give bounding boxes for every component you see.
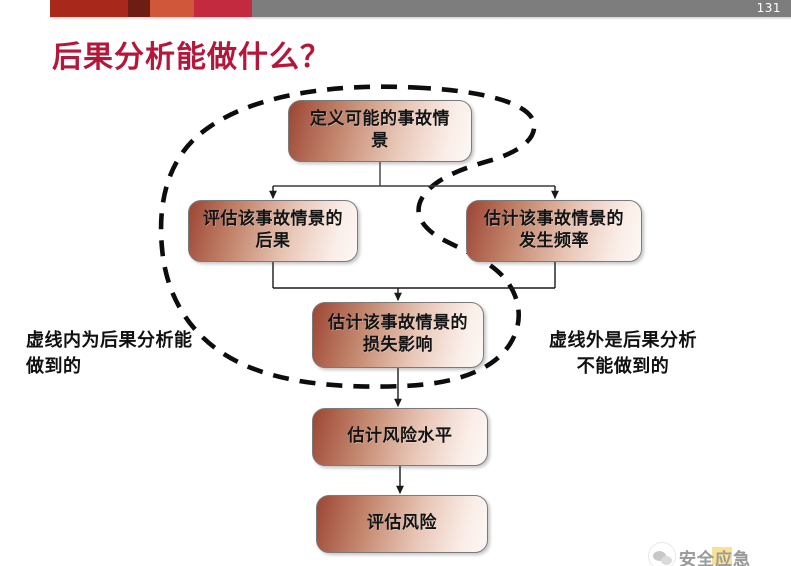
annotation-outside-dashed: 虚线外是后果分析不能做到的: [548, 328, 698, 380]
connector-define-split: [273, 162, 555, 186]
flow-node-estimate-risk-level[interactable]: 估计风险水平: [312, 408, 488, 466]
wechat-bubble-icon: [648, 542, 676, 566]
flowchart-vector-layer: [0, 0, 791, 566]
wechat-bubble-small: [661, 556, 672, 565]
flow-node-label: 估计该事故情景的损失影响: [313, 313, 483, 357]
flow-node-label: 估计风险水平: [334, 426, 467, 448]
flow-node-estimate-loss[interactable]: 估计该事故情景的损失影响: [312, 302, 484, 368]
watermark: 安全应急 安全应急: [648, 540, 778, 566]
watermark-text-overlay: 安全应急: [679, 545, 751, 566]
flow-node-assess-consequence[interactable]: 评估该事故情景的后果: [188, 200, 358, 262]
flow-node-estimate-frequency[interactable]: 估计该事故情景的发生频率: [466, 200, 642, 262]
flow-node-evaluate-risk[interactable]: 评估风险: [316, 495, 488, 553]
connector-merge-to-loss: [273, 262, 555, 288]
flow-node-label: 评估该事故情景的后果: [189, 209, 357, 253]
flow-node-label: 定义可能的事故情景: [289, 109, 471, 153]
flow-node-label: 评估风险: [353, 513, 451, 535]
flow-node-define-scenarios[interactable]: 定义可能的事故情景: [288, 100, 472, 162]
annotation-inside-dashed: 虚线内为后果分析能做到的: [26, 328, 196, 380]
flowchart-canvas: 定义可能的事故情景 评估该事故情景的后果 估计该事故情景的发生频率 估计该事故情…: [0, 0, 791, 566]
flow-node-label: 估计该事故情景的发生频率: [467, 209, 641, 253]
